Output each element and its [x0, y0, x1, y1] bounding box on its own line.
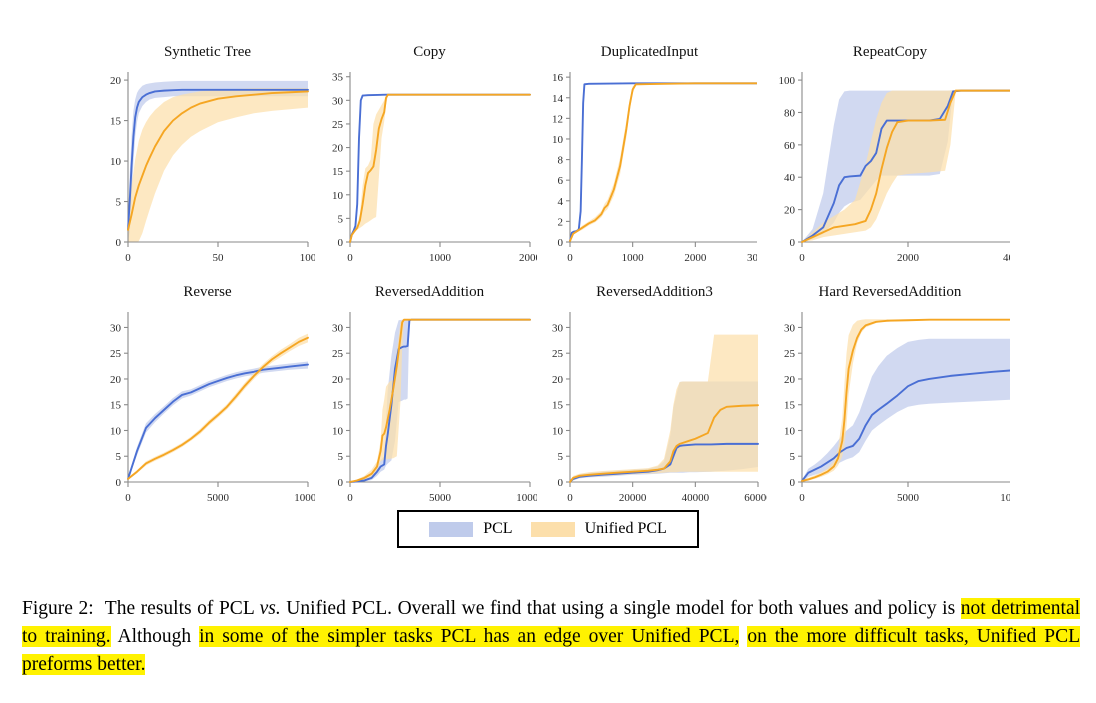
y-tick-label: 15	[332, 400, 344, 412]
y-tick-label: 5	[338, 213, 344, 225]
y-tick-label: 4	[558, 196, 564, 208]
legend-label: Unified PCL	[585, 520, 667, 538]
y-tick-label: 30	[110, 322, 122, 334]
y-tick-label: 0	[338, 237, 344, 249]
y-tick-label: 10	[110, 156, 122, 168]
figure-caption: Figure 2: The results of PCL vs. Unified…	[22, 595, 1080, 679]
y-tick-label: 20	[110, 374, 122, 386]
y-tick-label: 20	[784, 374, 796, 386]
y-tick-label: 10	[552, 134, 564, 146]
x-tick-label: 3000	[747, 252, 757, 264]
caption-segment: in some of the simpler tasks PCL has an …	[199, 626, 739, 647]
x-tick-label: 2000	[684, 252, 707, 264]
legend-entry-unified-pcl: Unified PCL	[531, 520, 667, 538]
y-tick-label: 16	[552, 72, 564, 84]
chart-legend: PCLUnified PCL	[397, 510, 699, 548]
legend-swatch-icon	[429, 522, 473, 537]
plot-area: 05101520253035010002000	[322, 44, 537, 264]
y-tick-label: 0	[790, 237, 796, 249]
y-tick-label: 30	[332, 95, 344, 107]
confidence-band-pcl	[128, 361, 308, 479]
x-tick-label: 60000	[744, 492, 767, 504]
x-tick-label: 100	[300, 252, 315, 264]
chart-panel-reversedaddition: ReversedAddition0510152025300500010000	[322, 284, 537, 504]
plot-area: 02468101214160100020003000	[542, 44, 757, 264]
y-tick-label: 15	[552, 400, 564, 412]
x-tick-label: 0	[567, 492, 573, 504]
caption-segment: The results of PCL	[105, 598, 260, 619]
y-tick-label: 25	[552, 348, 564, 360]
confidence-band-pcl	[802, 339, 1010, 482]
y-tick-label: 12	[552, 113, 563, 125]
x-tick-label: 2000	[519, 252, 537, 264]
y-tick-label: 15	[332, 166, 344, 178]
y-tick-label: 10	[552, 425, 564, 437]
y-tick-label: 25	[784, 348, 796, 360]
caption-label: Figure 2:	[22, 598, 94, 619]
y-tick-label: 15	[110, 400, 122, 412]
x-tick-label: 50	[213, 252, 225, 264]
y-tick-label: 80	[784, 107, 796, 119]
caption-segment: Unified PCL. Overall we find that using …	[281, 598, 961, 619]
y-tick-label: 20	[110, 75, 122, 87]
chart-panel-reversedaddition3: ReversedAddition305101520253002000040000…	[542, 284, 767, 504]
confidence-band-pcl	[350, 319, 530, 482]
y-tick-label: 30	[784, 322, 796, 334]
y-tick-label: 6	[558, 175, 564, 187]
plot-area: 0510152025300500010000	[322, 284, 537, 504]
caption-segment: Although	[111, 626, 199, 647]
x-tick-label: 4000	[1003, 252, 1010, 264]
x-tick-label: 0	[799, 492, 805, 504]
x-tick-label: 2000	[897, 252, 920, 264]
y-tick-label: 40	[784, 172, 796, 184]
figure-panel-grid: Synthetic Tree05101520050100Copy05101520…	[0, 0, 1096, 570]
confidence-band-unified-pcl	[350, 319, 530, 482]
y-tick-label: 10	[332, 425, 344, 437]
y-tick-label: 0	[558, 477, 564, 489]
y-tick-label: 30	[552, 322, 564, 334]
y-tick-label: 8	[558, 155, 564, 167]
confidence-band-unified-pcl	[350, 94, 530, 242]
chart-panel-repeatcopy: RepeatCopy020406080100020004000	[770, 44, 1010, 264]
y-tick-label: 30	[332, 322, 344, 334]
y-tick-label: 60	[784, 140, 796, 152]
plot-area: 020406080100020004000	[770, 44, 1010, 264]
chart-panel-hard-reversedaddition: Hard ReversedAddition0510152025300500010…	[770, 284, 1010, 504]
plot-area: 0510152025300500010000	[100, 284, 315, 504]
y-tick-label: 10	[332, 190, 344, 202]
series-line-pcl	[350, 320, 530, 482]
y-tick-label: 2	[558, 216, 564, 228]
series-line-unified-pcl	[570, 83, 757, 241]
y-tick-label: 20	[552, 374, 564, 386]
y-tick-label: 25	[110, 348, 122, 360]
x-tick-label: 5000	[207, 492, 230, 504]
x-tick-label: 10000	[516, 492, 537, 504]
confidence-band-unified-pcl	[570, 335, 758, 482]
y-tick-label: 0	[790, 477, 796, 489]
x-tick-label: 0	[347, 252, 353, 264]
chart-panel-reverse: Reverse0510152025300500010000	[100, 284, 315, 504]
plot-area: 05101520050100	[100, 44, 315, 264]
y-tick-label: 0	[558, 237, 564, 249]
y-tick-label: 5	[790, 451, 796, 463]
y-tick-label: 15	[784, 400, 796, 412]
y-tick-label: 5	[116, 451, 122, 463]
y-tick-label: 20	[332, 143, 344, 155]
y-tick-label: 35	[332, 72, 344, 84]
x-tick-label: 0	[347, 492, 353, 504]
x-tick-label: 0	[125, 492, 131, 504]
x-tick-label: 1000	[429, 252, 452, 264]
plot-area: 0510152025300500010000	[770, 284, 1010, 504]
legend-swatch-icon	[531, 522, 575, 537]
y-tick-label: 20	[332, 374, 344, 386]
chart-panel-copy: Copy05101520253035010002000	[322, 44, 537, 264]
caption-segment: vs.	[260, 598, 281, 619]
confidence-band-unified-pcl	[128, 88, 308, 242]
series-line-unified-pcl	[350, 320, 530, 482]
chart-panel-synthetic-tree: Synthetic Tree05101520050100	[100, 44, 315, 264]
y-tick-label: 10	[110, 425, 122, 437]
y-tick-label: 5	[116, 197, 122, 209]
y-tick-label: 14	[552, 93, 564, 105]
x-tick-label: 1000	[622, 252, 645, 264]
y-tick-label: 25	[332, 348, 344, 360]
plot-area: 0510152025300200004000060000	[542, 284, 767, 504]
y-tick-label: 0	[116, 237, 122, 249]
legend-entry-pcl: PCL	[429, 520, 512, 538]
y-tick-label: 25	[332, 119, 344, 131]
x-tick-label: 10000	[294, 492, 315, 504]
x-tick-label: 5000	[897, 492, 920, 504]
x-tick-label: 0	[799, 252, 805, 264]
y-tick-label: 5	[338, 451, 344, 463]
y-tick-label: 0	[116, 477, 122, 489]
y-tick-label: 10	[784, 425, 796, 437]
x-tick-label: 0	[567, 252, 573, 264]
chart-panel-duplicatedinput: DuplicatedInput0246810121416010002000300…	[542, 44, 757, 264]
y-tick-label: 20	[784, 205, 796, 217]
y-tick-label: 5	[558, 451, 564, 463]
x-tick-label: 40000	[682, 492, 710, 504]
x-tick-label: 10000	[1000, 492, 1010, 504]
x-tick-label: 20000	[619, 492, 647, 504]
x-tick-label: 5000	[429, 492, 452, 504]
y-tick-label: 15	[110, 116, 122, 128]
legend-label: PCL	[483, 520, 512, 538]
y-tick-label: 100	[779, 75, 796, 87]
y-tick-label: 0	[338, 477, 344, 489]
x-tick-label: 0	[125, 252, 131, 264]
